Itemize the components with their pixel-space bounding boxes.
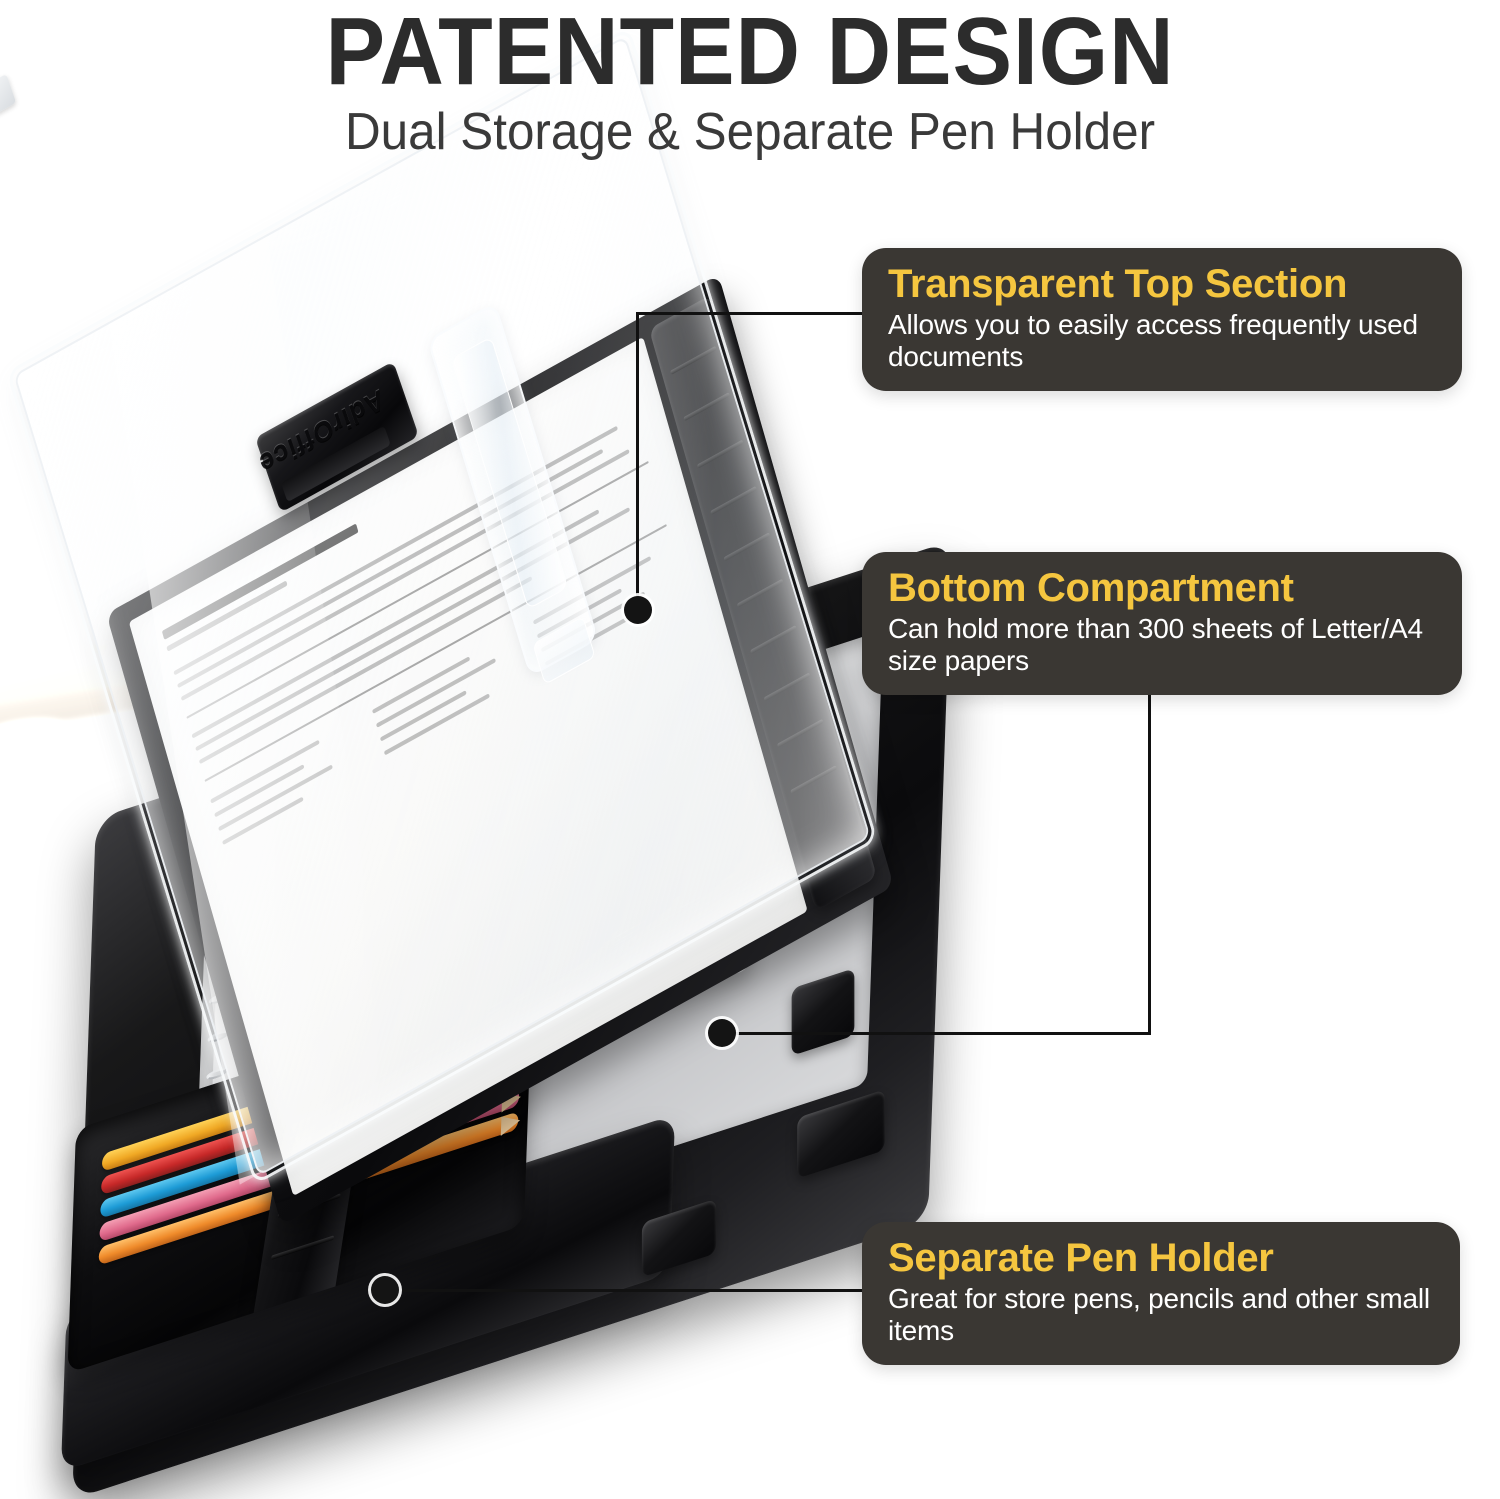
- leader-line-2-horizontal: [722, 1032, 1151, 1035]
- callout-marker-dot-2: [708, 1019, 736, 1047]
- leader-line-2-vertical: [1148, 694, 1151, 1034]
- leader-line-1-vertical: [636, 312, 639, 609]
- header: PATENTED DESIGN Dual Storage & Separate …: [0, 0, 1500, 161]
- product-storage-clipboard: 12: [0, 0, 1500, 1427]
- callout-marker-dot-3: [371, 1276, 399, 1304]
- callout-bottom-compartment: Bottom Compartment Can hold more than 30…: [862, 552, 1462, 695]
- callout-2-body: Can hold more than 300 sheets of Letter/…: [888, 613, 1440, 677]
- callout-2-title: Bottom Compartment: [888, 566, 1440, 611]
- callout-3-body: Great for store pens, pencils and other …: [888, 1283, 1438, 1347]
- leader-line-3-horizontal: [395, 1289, 865, 1292]
- page-title: PATENTED DESIGN: [53, 4, 1448, 100]
- infographic-stage: 12: [0, 0, 1500, 1427]
- callout-marker-dot-1: [624, 596, 652, 624]
- page-subtitle: Dual Storage & Separate Pen Holder: [38, 104, 1463, 161]
- callout-1-body: Allows you to easily access frequently u…: [888, 309, 1440, 373]
- callout-transparent-top-section: Transparent Top Section Allows you to ea…: [862, 248, 1462, 391]
- callout-separate-pen-holder: Separate Pen Holder Great for store pens…: [862, 1222, 1460, 1365]
- callout-1-title: Transparent Top Section: [888, 262, 1440, 307]
- leader-line-1-horizontal: [636, 312, 864, 315]
- callout-3-title: Separate Pen Holder: [888, 1236, 1438, 1281]
